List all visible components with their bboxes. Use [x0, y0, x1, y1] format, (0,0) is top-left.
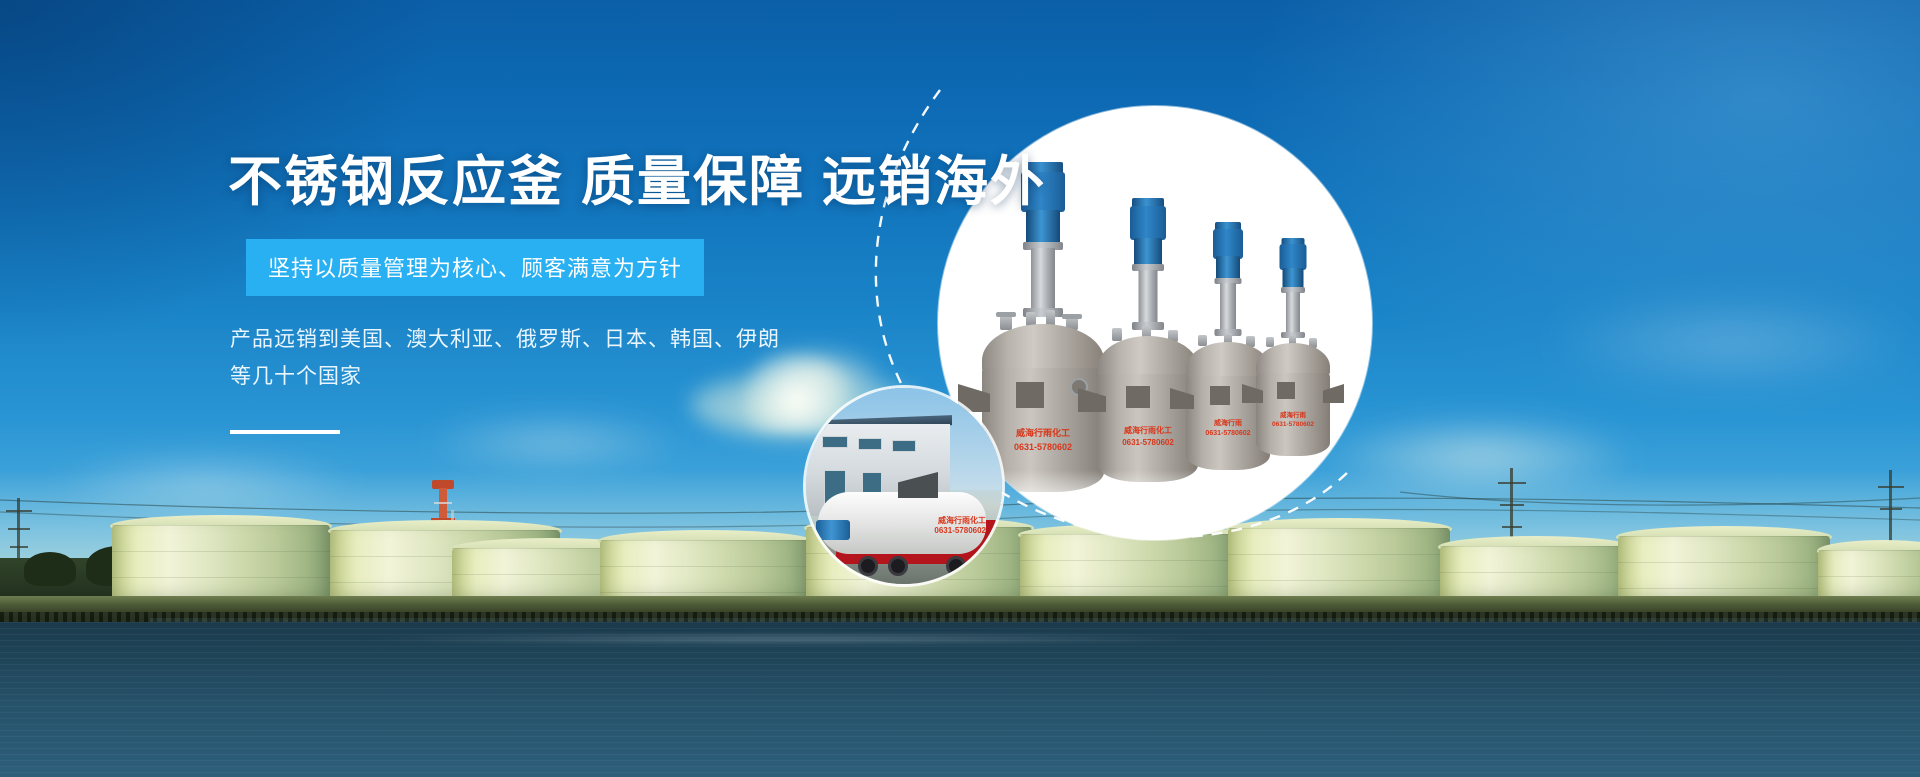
factory-window — [858, 438, 882, 450]
hero-banner: 威海行雨化工 0631-5780602 威海行雨化工 0631-5780602 — [0, 0, 1920, 777]
reactor-phone-label: 0631-5780602 — [1098, 438, 1198, 447]
cloud — [60, 455, 350, 515]
cloud — [1550, 300, 1910, 385]
description-line-1: 产品远销到美国、澳大利亚、俄罗斯、日本、韩国、伊朗 — [230, 322, 988, 359]
description: 产品远销到美国、澳大利亚、俄罗斯、日本、韩国、伊朗 等几十个国家 — [230, 322, 988, 396]
trailer-wheel — [858, 556, 878, 576]
reactor-brand-label: 威海行雨 — [1256, 412, 1330, 419]
decorative-rule — [230, 430, 340, 434]
trailer-wheel — [946, 556, 966, 576]
trailer-wheel — [888, 556, 908, 576]
description-line-2: 等几十个国家 — [230, 359, 988, 396]
tree — [24, 552, 76, 586]
reactor-phone-label: 0631-5780602 — [1256, 421, 1330, 428]
factory-window — [892, 440, 916, 452]
banner-copy: 不锈钢反应釜 质量保障 远销海外 坚持以质量管理为核心、顾客满意为方针 产品远销… — [228, 155, 988, 434]
agitator-motor — [816, 520, 850, 540]
page-title: 不锈钢反应釜 质量保障 远销海外 — [228, 155, 988, 209]
photo-fade — [938, 470, 1372, 540]
cloud — [1330, 420, 1630, 495]
slogan-badge: 坚持以质量管理为核心、顾客满意为方针 — [246, 239, 704, 296]
factory-phone-label: 0631-5780602 — [934, 526, 986, 536]
reactor-vessel: 威海行雨 0631-5780602 — [1256, 238, 1330, 456]
water-reflection — [346, 634, 1229, 644]
water — [0, 622, 1920, 777]
reactor-brand-label: 威海行雨化工 — [1098, 426, 1198, 435]
reactor-vessel: 威海行雨化工 0631-5780602 — [1098, 198, 1198, 482]
factory-brand-label: 威海行雨化工 — [938, 516, 986, 526]
factory-window — [822, 436, 848, 448]
